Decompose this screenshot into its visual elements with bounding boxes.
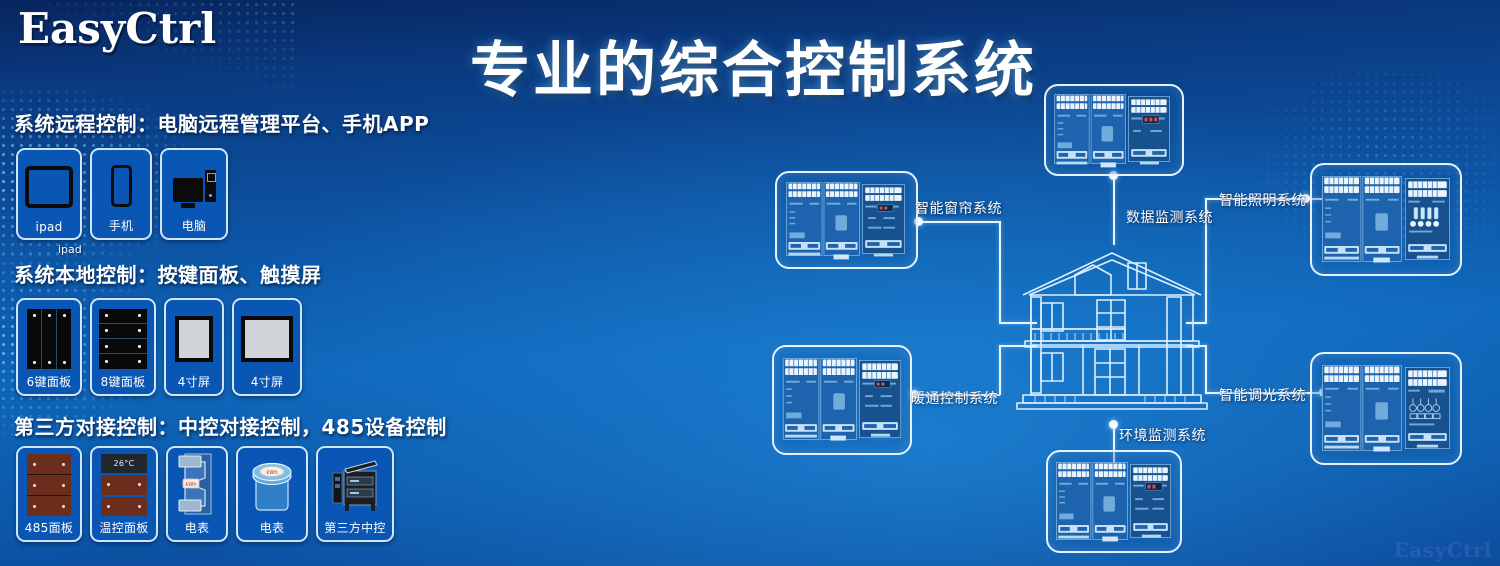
- din-rail-module-group: [777, 173, 916, 267]
- round-meter-glyph: kWh: [248, 458, 296, 514]
- wire-left-top-h: [918, 221, 1000, 223]
- card-row-remote-control: ipad 手机 电脑: [16, 148, 228, 240]
- section-heading-remote-control: 系统远程控制：电脑远程管理平台、手机APP: [14, 108, 429, 137]
- wire-left-bottom-v: [999, 345, 1001, 395]
- device-card-caption: 温控面板: [99, 519, 148, 536]
- din-rail-module-group: [1046, 86, 1182, 174]
- four-inch-screen-icon: [170, 307, 218, 370]
- device-card-8key-panel[interactable]: 8键面板: [90, 298, 156, 396]
- card-row-third-party: 485面板 26°C 温控面板 kWh: [16, 446, 394, 542]
- device-card-caption: ipad: [35, 220, 62, 234]
- device-card-third-party-controller[interactable]: 第三方中控: [316, 446, 394, 542]
- module-group-dimming[interactable]: [1310, 352, 1462, 465]
- eight-key-panel-icon: [96, 307, 150, 370]
- diagram-label-dimming: 智能调光系统: [1219, 385, 1306, 405]
- module-group-lighting[interactable]: [1310, 163, 1462, 276]
- device-card-caption: 6键面板: [27, 373, 72, 390]
- section-heading-third-party: 第三方对接控制：中控对接控制，485设备控制: [14, 411, 447, 440]
- device-card-caption: 485面板: [25, 519, 73, 536]
- device-card-4inch-screen-2[interactable]: 4寸屏: [232, 298, 302, 396]
- device-card-caption: 电表: [260, 519, 285, 536]
- din-rail-module-group: [1312, 165, 1460, 274]
- din-rail-module-group: [1312, 354, 1460, 463]
- rack-controller-glyph: [331, 457, 379, 515]
- diagram-label-environment: 环境监测系统: [1119, 425, 1206, 445]
- poster-canvas: EasyCtrl 专业的综合控制系统 系统远程控制：电脑远程管理平台、手机APP…: [0, 0, 1500, 566]
- device-card-caption: 8键面板: [101, 373, 146, 390]
- device-card-485-panel[interactable]: 485面板: [16, 446, 82, 542]
- section-heading-local-control: 系统本地控制：按键面板、触摸屏: [14, 259, 322, 288]
- module-group-environment[interactable]: [1046, 450, 1182, 553]
- din-rail-module-group: [1048, 452, 1180, 551]
- din-rail-module-group: [774, 347, 910, 453]
- house-blueprint-icon: [1015, 245, 1210, 430]
- desktop-computer-icon: [166, 157, 222, 214]
- tablet-icon: [22, 157, 76, 217]
- thermostat-display-value: 26°C: [101, 454, 147, 473]
- module-group-curtain[interactable]: [775, 171, 918, 269]
- energy-meter-icon: kWh: [172, 452, 222, 516]
- diagram-label-hvac: 暖通控制系统: [911, 388, 998, 408]
- device-card-computer[interactable]: 电脑: [160, 148, 228, 240]
- device-card-phone[interactable]: 手机: [90, 148, 152, 240]
- device-card-caption: 手机: [109, 217, 134, 234]
- diagram-label-lighting: 智能照明系统: [1219, 190, 1306, 210]
- six-key-panel-icon: [22, 307, 76, 370]
- wire-left-top-v: [999, 221, 1001, 323]
- svg-text:kWh: kWh: [266, 470, 277, 476]
- watermark-logo: EasyCtrl: [1394, 538, 1492, 562]
- device-card-caption: 电表: [185, 519, 210, 536]
- diagram-label-data-monitor: 数据监测系统: [1126, 207, 1213, 227]
- svg-text:kWh: kWh: [185, 482, 196, 488]
- round-meter-icon: kWh: [242, 455, 302, 516]
- device-card-ipad[interactable]: ipad: [16, 148, 82, 240]
- device-card-4inch-screen-1[interactable]: 4寸屏: [164, 298, 224, 396]
- device-card-caption: 电脑: [182, 217, 207, 234]
- four-inch-screen-wide-icon: [238, 307, 296, 370]
- module-group-data-monitor[interactable]: [1044, 84, 1184, 176]
- page-title: 专业的综合控制系统: [470, 22, 1037, 109]
- rs485-panel-icon: [22, 454, 76, 516]
- device-card-6key-panel[interactable]: 6键面板: [16, 298, 82, 396]
- diagram-label-curtain: 智能窗帘系统: [915, 198, 1002, 218]
- device-card-caption: 4寸屏: [251, 373, 284, 390]
- device-card-energy-meter[interactable]: kWh 电表: [166, 446, 228, 542]
- wire-top-center: [1113, 175, 1115, 245]
- device-card-caption: 4寸屏: [178, 373, 211, 390]
- stray-label-ipad: ipad: [58, 243, 82, 256]
- brand-logo: EasyCtrl: [18, 4, 216, 53]
- device-card-caption: 第三方中控: [324, 519, 386, 536]
- smartphone-icon: [96, 157, 146, 214]
- energy-meter-glyph: kWh: [175, 452, 219, 516]
- thermostat-panel-icon: 26°C: [96, 454, 152, 516]
- module-group-hvac[interactable]: [772, 345, 912, 455]
- card-row-local-control: 6键面板 8键面板 4寸屏 4寸屏: [16, 298, 302, 396]
- device-card-round-meter[interactable]: kWh 电表: [236, 446, 308, 542]
- device-card-thermostat-panel[interactable]: 26°C 温控面板: [90, 446, 158, 542]
- third-party-controller-icon: [322, 455, 388, 516]
